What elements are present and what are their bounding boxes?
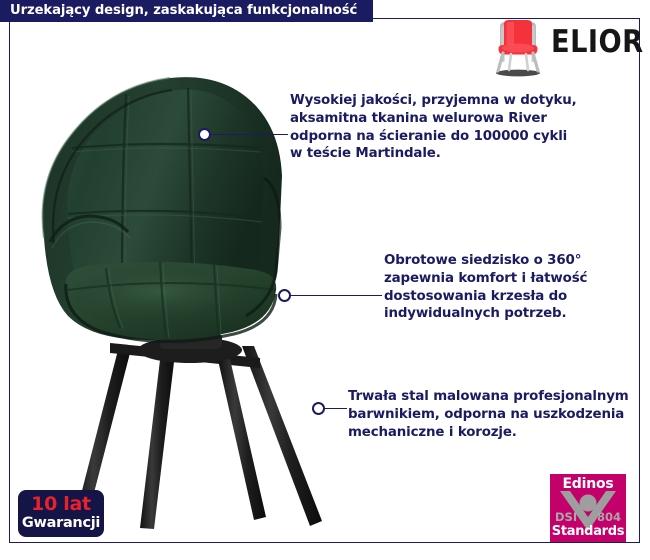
cert-brand-name: Edinos bbox=[550, 477, 626, 491]
callout-dot-swivel[interactable] bbox=[278, 289, 291, 302]
callout-line-swivel bbox=[290, 295, 382, 297]
callout-fabric-line-4: w teście Martindale. bbox=[290, 145, 577, 163]
cert-code: DSI bbox=[555, 512, 577, 524]
product-infographic: Urzekający design, zaskakująca funkcjona… bbox=[0, 0, 650, 560]
brand-name: ELIOR bbox=[551, 27, 644, 58]
callout-dot-fabric[interactable] bbox=[198, 128, 211, 141]
callout-fabric-line-2: aksamitna tkanina welurowa River bbox=[290, 110, 577, 128]
brand-logo: ELIOR bbox=[487, 16, 635, 78]
callout-steel-line-3: mechaniczne i korozje. bbox=[348, 424, 629, 442]
cert-label: Standards bbox=[550, 525, 626, 538]
callout-dot-steel[interactable] bbox=[312, 402, 325, 415]
callout-line-fabric bbox=[210, 134, 288, 136]
page-title: Urzekający design, zaskakująca funkcjona… bbox=[10, 4, 357, 17]
callout-steel-text: Trwała stal malowana profesjonalnym barw… bbox=[348, 388, 629, 441]
callout-fabric-line-3: odporna na ścieranie do 100000 cykli bbox=[290, 128, 577, 146]
callout-swivel: Obrotowe siedzisko o 360° zapewnia komfo… bbox=[384, 252, 587, 323]
callout-swivel-line-3: dostosowania krzesła do bbox=[384, 288, 587, 306]
warranty-years: 10 lat bbox=[31, 495, 91, 514]
callout-line-steel bbox=[324, 408, 347, 410]
callout-steel-line-2: barwnikiem, odporna na uszkodzenia bbox=[348, 406, 629, 424]
callout-swivel-line-4: indywidualnych potrzeb. bbox=[384, 305, 587, 323]
cert-number: 804 bbox=[597, 512, 621, 524]
warranty-label: Gwarancji bbox=[22, 516, 100, 531]
callout-swivel-text: Obrotowe siedzisko o 360° zapewnia komfo… bbox=[384, 252, 587, 323]
callout-steel: Trwała stal malowana profesjonalnym barw… bbox=[348, 388, 629, 441]
red-chair-icon bbox=[487, 16, 549, 78]
callout-swivel-line-1: Obrotowe siedzisko o 360° bbox=[384, 252, 587, 270]
callout-fabric: Wysokiej jakości, przyjemna w dotyku, ak… bbox=[290, 92, 577, 163]
warranty-badge: 10 lat Gwarancji bbox=[18, 490, 104, 537]
callout-fabric-line-1: Wysokiej jakości, przyjemna w dotyku, bbox=[290, 92, 577, 110]
certification-badge: Edinos DSI 804 Standards bbox=[550, 474, 626, 542]
callout-fabric-text: Wysokiej jakości, przyjemna w dotyku, ak… bbox=[290, 92, 577, 163]
callout-swivel-line-2: zapewnia komfort i łatwość bbox=[384, 270, 587, 288]
callout-steel-line-1: Trwała stal malowana profesjonalnym bbox=[348, 388, 629, 406]
header-bar: Urzekający design, zaskakująca funkcjona… bbox=[0, 0, 373, 22]
